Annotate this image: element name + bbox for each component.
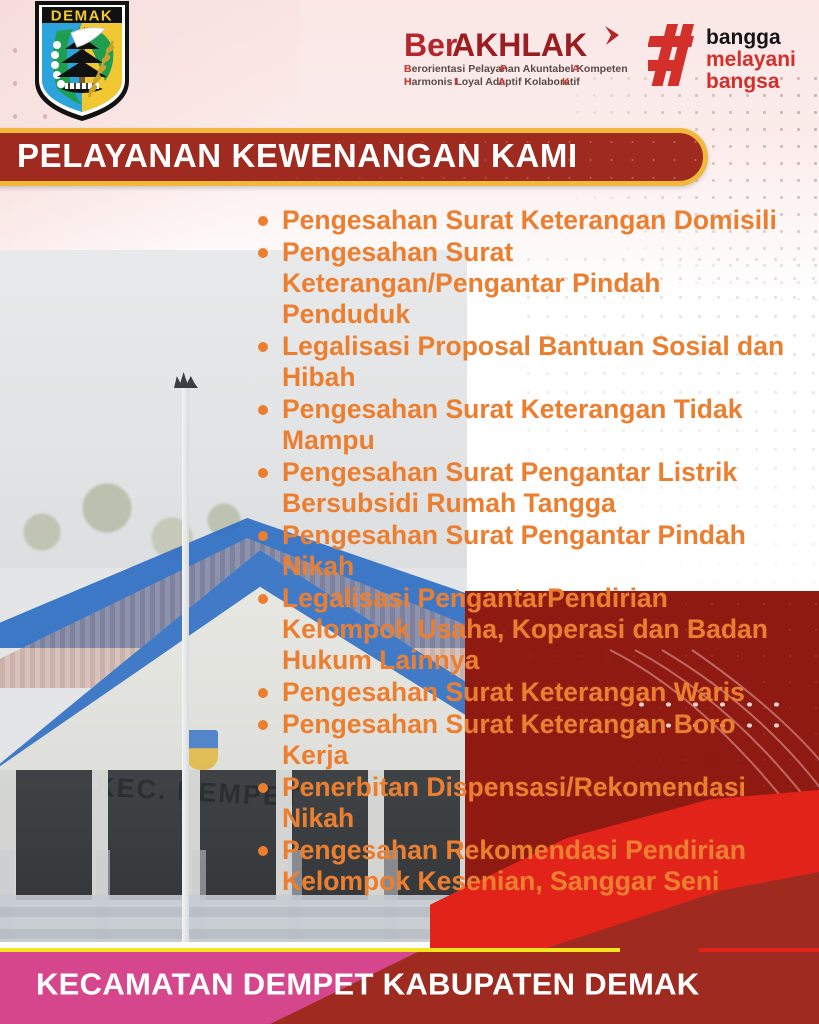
svg-text:Berorientasi Pelayanan Akuntab: Berorientasi Pelayanan Akuntabel Kompete…	[404, 63, 628, 75]
svg-text:A: A	[498, 76, 506, 88]
svg-text:A: A	[572, 63, 580, 75]
svg-text:L: L	[454, 76, 461, 88]
demak-regency-emblem-icon: DEMAK	[27, 0, 137, 124]
bullet-icon	[258, 594, 268, 604]
list-item: Pengesahan Rekomendasi Pendirian Kelompo…	[248, 835, 788, 897]
photo-steps	[0, 895, 467, 942]
svg-text:B: B	[404, 63, 412, 75]
list-item: Penerbitan Dispensasi/Rekomendasi Nikah	[248, 772, 788, 834]
svg-text:DEMAK: DEMAK	[51, 8, 114, 25]
list-item: Legalisasi PengantarPendirian Kelompok U…	[248, 583, 788, 676]
list-item-label: Pengesahan Surat Keterangan/Pengantar Pi…	[282, 237, 660, 329]
bullet-icon	[258, 531, 268, 541]
list-item: Pengesahan Surat Keterangan Boro Kerja	[248, 709, 788, 771]
footer-red-corner-strip	[699, 948, 819, 952]
svg-text:H: H	[404, 76, 412, 88]
svg-text:bangsa: bangsa	[706, 70, 780, 93]
photo-kecamatan-emblem	[186, 730, 218, 770]
list-item-label: Penerbitan Dispensasi/Rekomendasi Nikah	[282, 772, 746, 833]
bullet-icon	[258, 783, 268, 793]
svg-text:Harmonis Loyal Adaptif Kolabor: Harmonis Loyal Adaptif Kolaboratif	[404, 76, 580, 88]
svg-text:Ber: Ber	[404, 27, 457, 63]
list-item-label: Pengesahan Surat Keterangan Waris	[282, 677, 745, 707]
poster-canvas: DEMAK	[0, 0, 819, 1024]
list-item: Pengesahan Surat Keterangan Tidak Mampu	[248, 394, 788, 456]
svg-text:P: P	[500, 63, 507, 75]
list-item: Pengesahan Surat Keterangan/Pengantar Pi…	[248, 237, 788, 330]
svg-text:bangga: bangga	[706, 26, 781, 49]
page-title: PELAYANAN KEWENANGAN KAMI	[17, 137, 578, 175]
list-item-label: Pengesahan Surat Keterangan Tidak Mampu	[282, 394, 742, 455]
footer-title: KECAMATAN DEMPET KABUPATEN DEMAK	[36, 967, 699, 1003]
footer-bar: KECAMATAN DEMPET KABUPATEN DEMAK	[0, 948, 819, 1024]
bullet-icon	[258, 342, 268, 352]
list-item: Pengesahan Surat Keterangan Waris	[248, 677, 788, 708]
list-item: Pengesahan Surat Pengantar Listrik Bersu…	[248, 457, 788, 519]
list-item-label: Pengesahan Surat Keterangan Boro Kerja	[282, 709, 736, 770]
list-item: Legalisasi Proposal Bantuan Sosial dan H…	[248, 331, 788, 393]
bullet-icon	[258, 405, 268, 415]
list-item-label: Pengesahan Surat Pengantar Listrik Bersu…	[282, 457, 737, 518]
bangga-melayani-bangsa-logo-icon: bangga melayani bangsa	[648, 20, 808, 94]
svg-text:AKHLAK: AKHLAK	[452, 27, 587, 63]
footer-yellow-stripe	[0, 948, 620, 952]
bullet-icon	[258, 468, 268, 478]
bullet-icon	[258, 248, 268, 258]
list-item: Pengesahan Surat Keterangan Domisili	[248, 205, 788, 236]
list-item-label: Pengesahan Rekomendasi Pendirian Kelompo…	[282, 835, 746, 896]
list-item-label: Legalisasi Proposal Bantuan Sosial dan H…	[282, 331, 784, 392]
list-item-label: Pengesahan Surat Pengantar Pindah Nikah	[282, 520, 746, 581]
svg-text:K: K	[562, 76, 570, 88]
services-list: Pengesahan Surat Keterangan Domisili Pen…	[248, 205, 788, 898]
berakhlak-logo-icon: Ber AKHLAK Berorientasi Pelayanan Akunta…	[404, 22, 629, 94]
bullet-icon	[258, 720, 268, 730]
bullet-icon	[258, 846, 268, 856]
bullet-icon	[258, 688, 268, 698]
list-item-label: Legalisasi PengantarPendirian Kelompok U…	[282, 583, 768, 675]
bullet-icon	[258, 216, 268, 226]
svg-text:melayani: melayani	[706, 48, 796, 71]
title-banner: PELAYANAN KEWENANGAN KAMI	[0, 128, 708, 186]
list-item: Pengesahan Surat Pengantar Pindah Nikah	[248, 520, 788, 582]
photo-flagpole	[182, 380, 189, 942]
list-item-label: Pengesahan Surat Keterangan Domisili	[282, 205, 777, 235]
